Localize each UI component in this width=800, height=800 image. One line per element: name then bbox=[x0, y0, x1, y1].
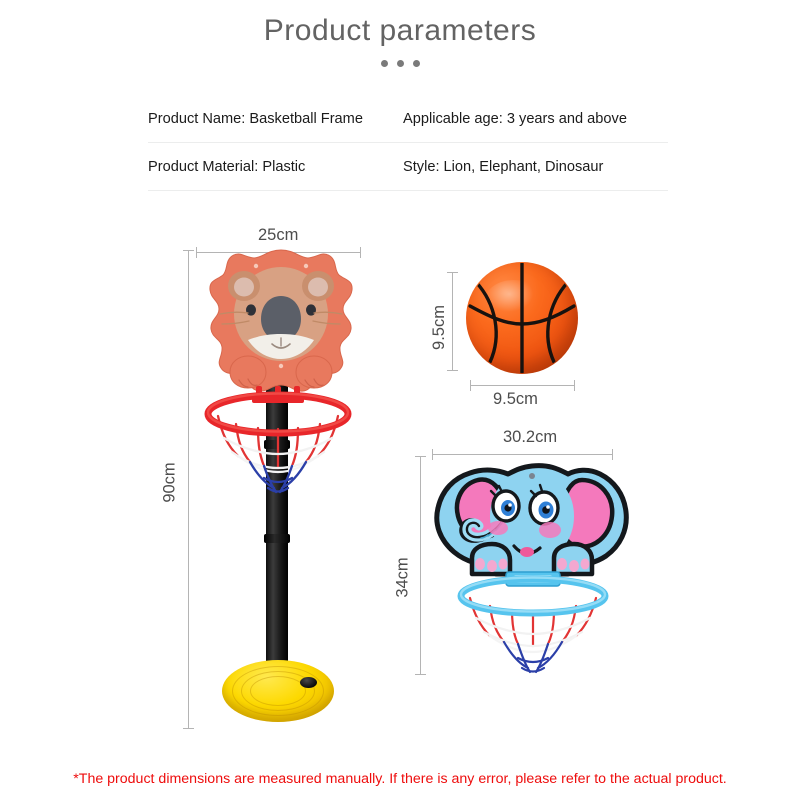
lion-hoop-and-net bbox=[202, 394, 354, 504]
ball-width-dim-cap-right bbox=[574, 380, 575, 391]
elephant-backboard bbox=[432, 462, 632, 672]
elephant-width-dim-line bbox=[432, 454, 612, 455]
basketball bbox=[466, 262, 578, 374]
elephant-height-dim-line bbox=[420, 456, 421, 674]
elephant-width-label: 30.2cm bbox=[503, 428, 557, 447]
lion-height-dim-cap-top bbox=[183, 250, 194, 251]
stand-base bbox=[222, 660, 334, 722]
ball-height-dim-cap-top bbox=[447, 272, 458, 273]
elephant-height-label: 34cm bbox=[394, 557, 413, 597]
lion-height-dim-cap-bottom bbox=[183, 728, 194, 729]
base-drain-plug bbox=[300, 677, 317, 688]
ball-height-dim-cap-bottom bbox=[447, 370, 458, 371]
lion-height-dim-line bbox=[188, 250, 189, 728]
lion-width-label: 25cm bbox=[258, 226, 298, 245]
ball-height-label: 9.5cm bbox=[430, 305, 449, 350]
base-ring bbox=[250, 676, 306, 706]
ball-width-dim-line bbox=[470, 385, 574, 386]
elephant-height-dim-cap-top bbox=[415, 456, 426, 457]
elephant-height-dim-cap-bottom bbox=[415, 674, 426, 675]
lion-backboard bbox=[208, 248, 354, 398]
elephant-width-dim-cap-left bbox=[432, 449, 433, 460]
product-illustrations: 25cm 90cm bbox=[0, 0, 800, 800]
disclaimer-note: *The product dimensions are measured man… bbox=[0, 771, 800, 787]
basketball-seams bbox=[466, 262, 578, 374]
elephant-width-dim-cap-right bbox=[612, 449, 613, 460]
ball-height-dim-line bbox=[452, 272, 453, 370]
ball-width-dim-cap-left bbox=[470, 380, 471, 391]
lion-basketball-stand bbox=[196, 248, 366, 730]
elephant-hoop-and-net bbox=[454, 578, 612, 678]
ball-width-label: 9.5cm bbox=[493, 390, 538, 409]
pole-collar bbox=[264, 534, 290, 543]
lion-height-label: 90cm bbox=[161, 462, 180, 502]
